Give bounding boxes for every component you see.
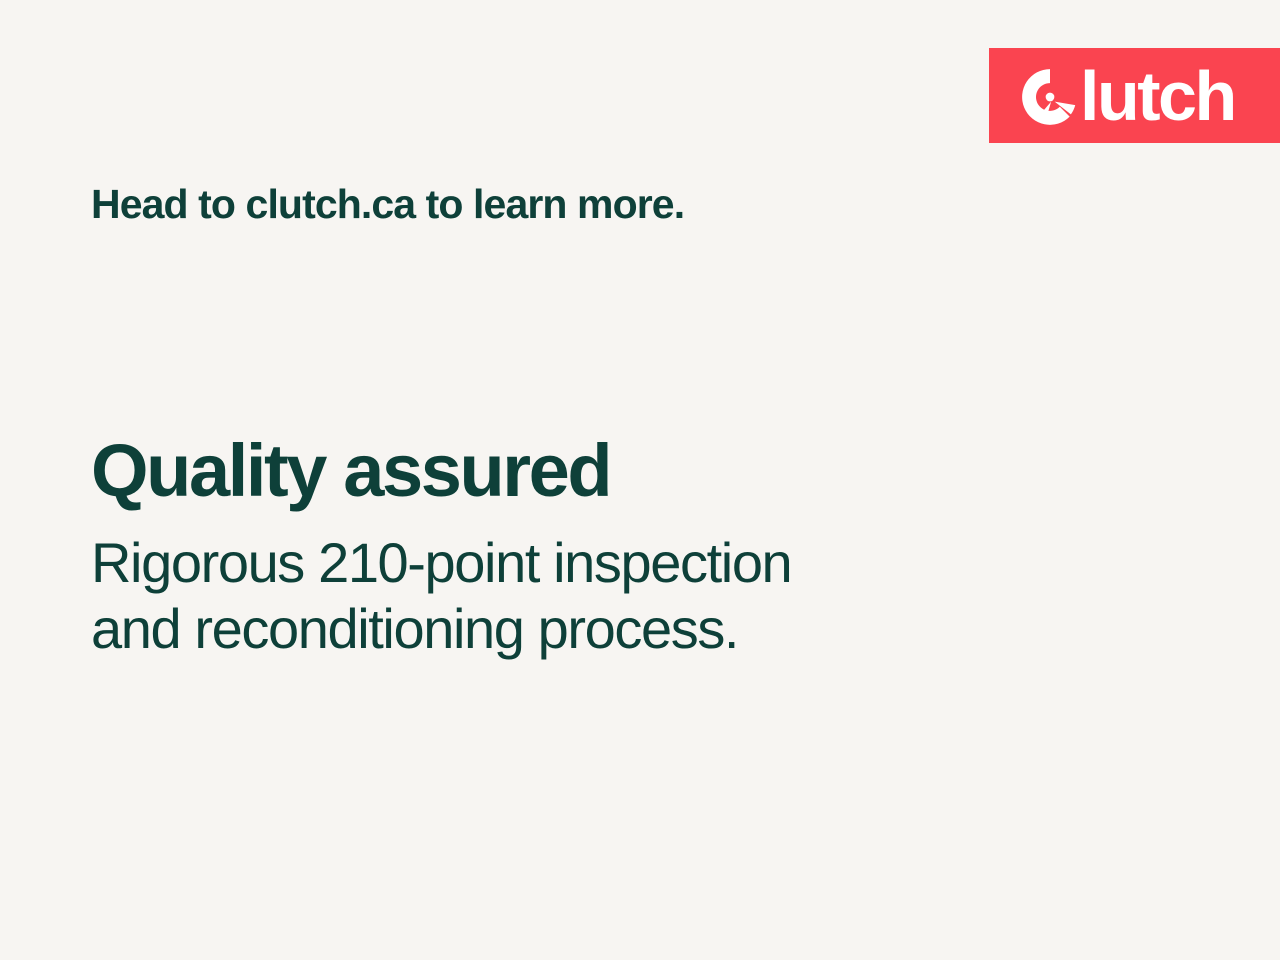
eyebrow-text: Head to clutch.ca to learn more. bbox=[91, 181, 684, 228]
headline-group: Quality assured Rigorous 210-point inspe… bbox=[91, 434, 1091, 661]
clutch-c-mark-icon bbox=[1021, 68, 1079, 126]
clutch-brand-badge[interactable]: lutch bbox=[989, 48, 1280, 143]
clutch-wordmark: lutch bbox=[1080, 61, 1235, 131]
page-title: Quality assured bbox=[91, 434, 1091, 508]
brand-lockup: lutch bbox=[1021, 60, 1235, 131]
subheadline-line-2: and reconditioning process. bbox=[91, 596, 1091, 662]
subheadline: Rigorous 210-point inspection and recond… bbox=[91, 530, 1091, 661]
slide-canvas: lutch Head to clutch.ca to learn more. Q… bbox=[0, 0, 1280, 960]
subheadline-line-1: Rigorous 210-point inspection bbox=[91, 530, 1091, 596]
